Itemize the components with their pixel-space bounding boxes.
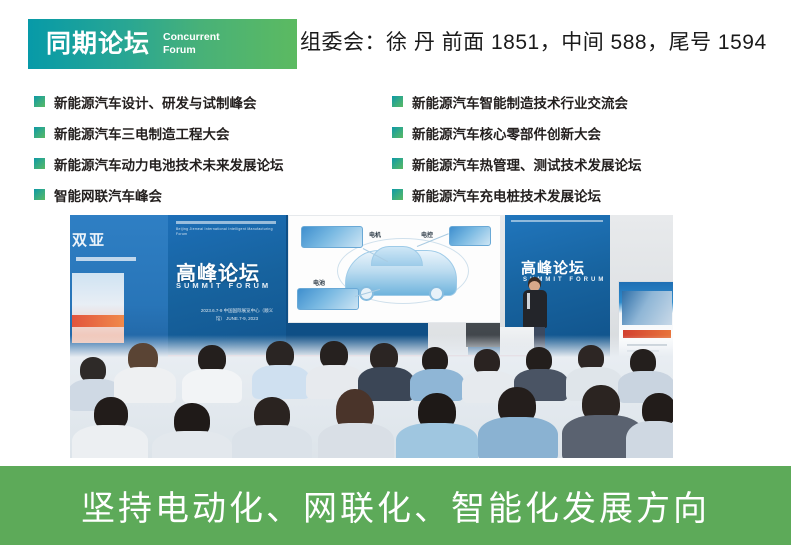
forum-header-banner: 同期论坛 Concurrent Forum xyxy=(28,19,297,69)
photo-small-poster xyxy=(72,273,124,343)
forum-item-label: 新能源汽车核心零部件创新大会 xyxy=(412,123,601,143)
forum-item-label: 新能源汽车热管理、测试技术发展论坛 xyxy=(412,154,642,174)
photo-small-poster-band xyxy=(72,315,124,327)
list-item: 新能源汽车热管理、测试技术发展论坛 xyxy=(392,148,764,179)
list-item: 智能网联汽车峰会 xyxy=(34,179,392,210)
forum-item-label: 智能网联汽车峰会 xyxy=(54,185,162,205)
forum-column-left: 新能源汽车设计、研发与试制峰会 新能源汽车三电制造工程大会 新能源汽车动力电池技… xyxy=(34,86,392,210)
forum-header-title-en: Concurrent Forum xyxy=(163,31,220,57)
list-item: 新能源汽车三电制造工程大会 xyxy=(34,117,392,148)
car-wheel-rear-icon xyxy=(429,286,444,301)
rollup-photo-area xyxy=(622,291,672,325)
square-bullet-icon xyxy=(392,127,403,138)
list-item: 新能源汽车核心零部件创新大会 xyxy=(392,117,764,148)
audience-shoulders xyxy=(182,369,242,403)
diagram-label-battery: 电池 xyxy=(313,278,325,287)
battery-part-icon xyxy=(297,288,359,310)
forum-item-label: 新能源汽车设计、研发与试制峰会 xyxy=(54,92,257,112)
audience-shoulders xyxy=(152,431,232,458)
diagram-label-motor: 电机 xyxy=(369,230,381,239)
slogan-banner: 坚持电动化、网联化、智能化发展方向 xyxy=(0,466,791,545)
square-bullet-icon xyxy=(392,96,403,107)
audience-shoulders xyxy=(232,425,312,458)
list-item: 新能源汽车智能制造技术行业交流会 xyxy=(392,86,764,117)
forum-header-title-cn: 同期论坛 xyxy=(46,32,150,57)
square-bullet-icon xyxy=(392,189,403,200)
forum-column-right: 新能源汽车智能制造技术行业交流会 新能源汽车核心零部件创新大会 新能源汽车热管理… xyxy=(392,86,764,210)
forum-item-label: 新能源汽车动力电池技术未来发展论坛 xyxy=(54,154,284,174)
speaker-badge-lanyard xyxy=(527,293,530,309)
photo-scene: 双亚 Beijing Jiemeai International Intelli… xyxy=(70,215,673,458)
photo-banner-subtitle: Beijing Jiemeai International Intelligen… xyxy=(176,227,278,237)
photo-banner2-topline xyxy=(511,220,603,222)
square-bullet-icon xyxy=(392,158,403,169)
square-bullet-icon xyxy=(34,96,45,107)
audience-shoulders xyxy=(478,417,558,458)
list-item: 新能源汽车充电桩技术发展论坛 xyxy=(392,179,764,210)
photo-banner-date: 2023.6.7-9 中国国际展览中心（顺义馆） JUNE.7-9, 2023 xyxy=(198,307,276,322)
forum-list: 新能源汽车设计、研发与试制峰会 新能源汽车三电制造工程大会 新能源汽车动力电池技… xyxy=(34,86,764,210)
audience-shoulders xyxy=(114,367,176,403)
audience-shoulders xyxy=(72,425,148,458)
square-bullet-icon xyxy=(34,127,45,138)
audience-shoulders xyxy=(626,421,673,458)
conference-photo: 双亚 Beijing Jiemeai International Intelli… xyxy=(70,215,673,458)
photo-banner-title-en: SUMMIT FORUM xyxy=(176,281,271,290)
photo-projection-screen: 电机 电控 电池 动力系统测试 电控系统测试 电池电压、内阻测量 电池温度测量 … xyxy=(288,215,504,323)
square-bullet-icon xyxy=(34,158,45,169)
slogan-text: 坚持电动化、网联化、智能化发展方向 xyxy=(81,481,710,530)
audience-shoulders xyxy=(396,423,478,458)
ecu-part-icon xyxy=(449,226,491,246)
forum-item-label: 新能源汽车充电桩技术发展论坛 xyxy=(412,185,601,205)
diagram-label-ecu: 电控 xyxy=(421,230,433,239)
list-item: 新能源汽车设计、研发与试制峰会 xyxy=(34,86,392,117)
forum-item-label: 新能源汽车智能制造技术行业交流会 xyxy=(412,92,628,112)
photo-banner-topline xyxy=(176,221,276,224)
motor-part-icon xyxy=(301,226,363,248)
list-item: 新能源汽车动力电池技术未来发展论坛 xyxy=(34,148,392,179)
photo-banner2-title-cn: 高峰论坛 xyxy=(521,257,585,278)
audience-shoulders xyxy=(318,423,394,458)
photo-audience xyxy=(70,335,673,458)
organizer-contact-text: 组委会：徐 丹 前面 1851，中间 588，尾号 1594 xyxy=(300,26,767,56)
audience-shoulders xyxy=(252,365,310,399)
square-bullet-icon xyxy=(34,189,45,200)
forum-item-label: 新能源汽车三电制造工程大会 xyxy=(54,123,230,143)
photo-left-wall-bar xyxy=(76,257,136,261)
photo-left-wall-text: 双亚 xyxy=(72,229,106,250)
